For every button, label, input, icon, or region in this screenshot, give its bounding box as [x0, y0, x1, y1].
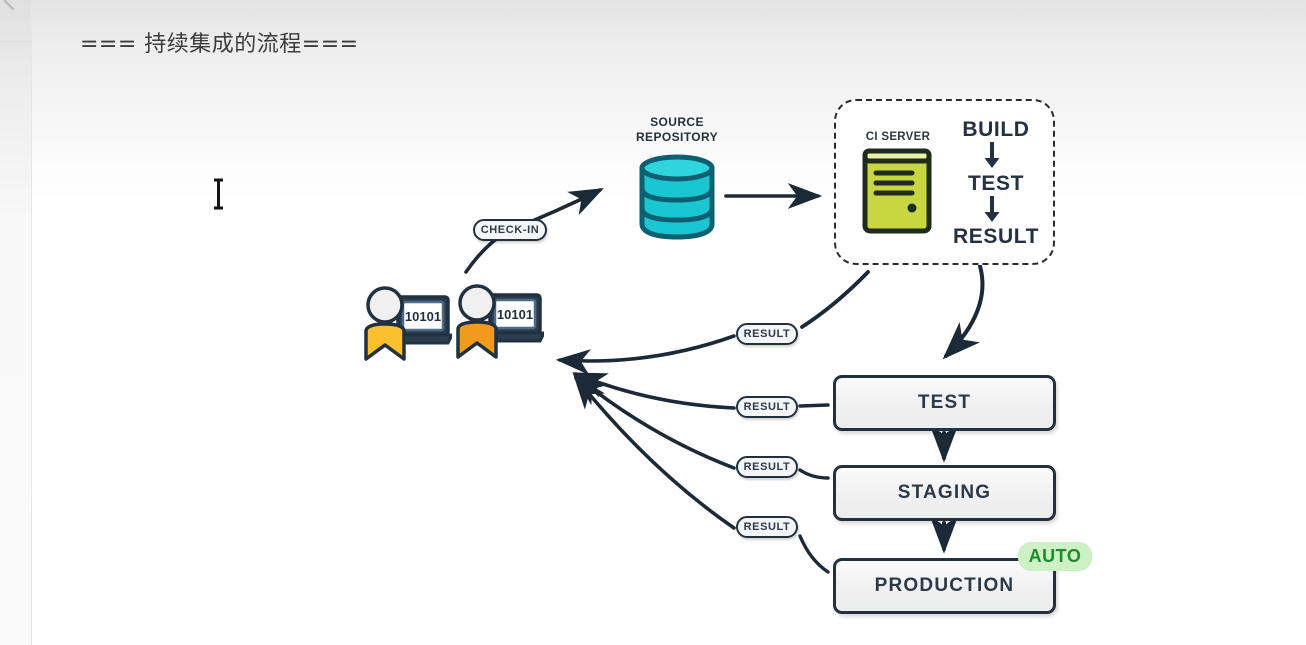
badge-result: RESULT	[736, 516, 798, 538]
badge-check-in: CHECK-IN	[473, 219, 547, 241]
ci-step-result: RESULT	[942, 225, 1050, 249]
diagram-connectors	[0, 0, 1306, 645]
ci-arrow-test-to-result-icon	[981, 195, 1003, 223]
repo-label-line1: SOURCE	[650, 115, 704, 129]
server-rack-icon	[862, 148, 932, 234]
env-box-test: TEST	[833, 375, 1056, 431]
ci-arrow-build-to-test-icon	[981, 141, 1003, 169]
source-repository-label: SOURCE REPOSITORY	[614, 115, 740, 145]
badge-result: RESULT	[736, 396, 798, 418]
badge-result: RESULT	[736, 323, 798, 345]
ci-step-build: BUILD	[942, 118, 1050, 142]
page-root: === 持续集成的流程===	[0, 0, 1306, 645]
env-box-staging: STAGING	[833, 465, 1056, 521]
badge-result: RESULT	[736, 456, 798, 478]
laptop-screen-text: 10101	[405, 309, 441, 324]
ci-server-label: CI SERVER	[856, 131, 940, 143]
laptop-screen-text: 10101	[497, 307, 533, 322]
auto-badge: AUTO	[1018, 542, 1092, 571]
database-cylinder-icon	[636, 152, 718, 240]
ci-step-test: TEST	[942, 172, 1050, 196]
repo-label-line2: REPOSITORY	[636, 130, 718, 144]
developer-laptop-icon: 10101	[452, 281, 544, 361]
developer-laptop-icon: 10101	[360, 283, 452, 363]
